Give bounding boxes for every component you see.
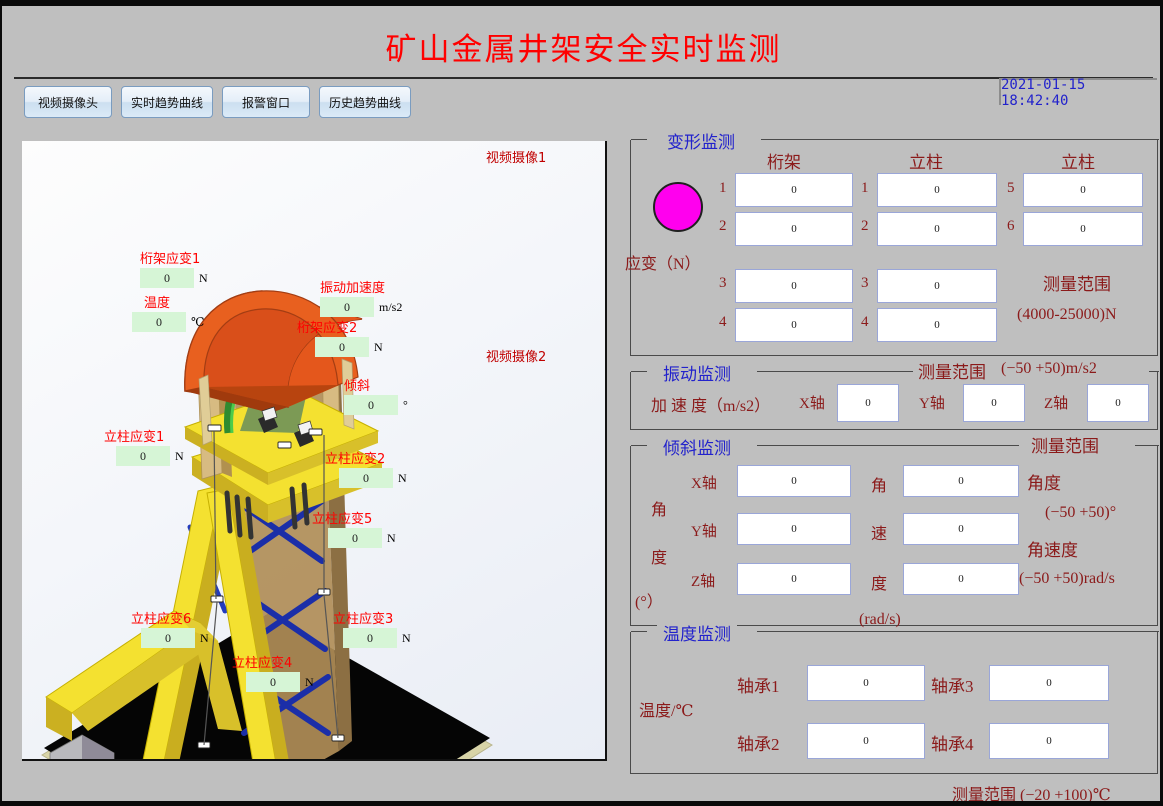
toolbar: 视频摄像头 实时趋势曲线 报警窗口 历史趋势曲线: [24, 86, 411, 118]
sensor-label: 倾斜: [344, 379, 408, 394]
tilt-angle-unit: (°）: [635, 588, 663, 612]
tilt-range-angle-value: (−50 +50)°: [1045, 504, 1116, 522]
alarm-window-button[interactable]: 报警窗口: [222, 86, 310, 118]
vibration-axis-z-label: Z轴: [1044, 392, 1068, 413]
truss-field-3[interactable]: 0: [735, 269, 853, 303]
sensor-vibration-acceleration: 振动加速度 0 m/s2: [320, 281, 402, 317]
sensor-unit: N: [398, 471, 407, 486]
deformation-range-title: 测量范围: [1043, 270, 1111, 295]
sensor-unit: N: [200, 631, 209, 646]
vibration-legend: 振动监测: [657, 360, 737, 385]
sensor-unit: N: [175, 449, 184, 464]
temperature-range-text: 测量范围 (−20 +100)℃: [952, 781, 1111, 805]
sensor-value: 0: [315, 337, 369, 357]
sensor-unit: m/s2: [379, 300, 402, 315]
realtime-trend-curve-button[interactable]: 实时趋势曲线: [121, 86, 213, 118]
truss-field-1[interactable]: 0: [735, 173, 853, 207]
sensor-column-strain-6: 立柱应变6 0 N: [131, 612, 209, 648]
strain-axis-label: 应变（N）: [625, 250, 701, 274]
sensor-column-strain-1: 立柱应变1 0 N: [104, 430, 184, 466]
truss-index-2: 2: [719, 218, 727, 235]
timestamp-display: 2021-01-15 18:42:40: [1001, 77, 1157, 109]
sensor-label: 立柱应变1: [104, 430, 184, 445]
deformation-status-indicator: [653, 182, 703, 232]
sensor-value: 0: [328, 528, 382, 548]
sensor-label: 桁架应变2: [297, 321, 383, 336]
sensor-truss-strain-2: 桁架应变2 0 N: [297, 321, 383, 357]
truss-index-4: 4: [719, 314, 727, 331]
truss-index-1: 1: [719, 180, 727, 197]
temperature-legend: 温度监测: [657, 620, 737, 645]
temperature-monitoring-group: 温度监测 温度/℃ 轴承1 0 轴承3 0 轴承2 0 轴承4 0: [630, 632, 1158, 774]
bearing-1-field[interactable]: 0: [807, 665, 925, 701]
tilt-axis-x-label: X轴: [691, 472, 717, 493]
tilt-angle-char-1: 角: [651, 496, 667, 520]
sensor-tilt: 倾斜 0 °: [344, 379, 408, 415]
pillar-a-index-2: 2: [861, 218, 869, 235]
sensor-label: 立柱应变2: [325, 452, 407, 467]
tilt-range-rate-title: 角速度: [1027, 536, 1078, 561]
tilt-range-rate-value: (−50 +50)rad/s: [1019, 570, 1115, 588]
tilt-axis-z-label: Z轴: [691, 570, 715, 591]
truss-index-3: 3: [719, 275, 727, 292]
sensor-value: 0: [141, 628, 195, 648]
vibration-z-field[interactable]: 0: [1087, 384, 1149, 422]
temperature-axis-label: 温度/℃: [639, 697, 693, 721]
deformation-monitoring-group: 变形监测 应变（N） 桁架 立柱 立柱 1 0 2 0 3 0 4 0 1 0 …: [630, 140, 1158, 356]
sensor-column-strain-4: 立柱应变4 0 N: [232, 656, 314, 692]
tilt-range-title: 测量范围: [1031, 432, 1099, 457]
clock-panel: 2021-01-15 18:42:40: [999, 78, 1157, 105]
tilt-x-field[interactable]: 0: [737, 465, 851, 497]
sensor-value: 0: [344, 395, 398, 415]
sensor-unit: °: [403, 398, 408, 413]
group-border-far-right: [1149, 371, 1159, 372]
deformation-range-value: (4000-25000)N: [1017, 306, 1117, 324]
sensor-label: 桁架应变1: [140, 252, 208, 267]
group-border-far-right: [1135, 445, 1159, 446]
application-window: 矿山金属井架安全实时监测 视频摄像头 实时趋势曲线 报警窗口 历史趋势曲线 20…: [0, 0, 1163, 806]
bearing-1-label: 轴承1: [737, 672, 780, 697]
pillar-a-field-2[interactable]: 0: [877, 212, 997, 246]
model-viewport[interactable]: 视频摄像1 视频摄像2 桁架应变1 0 N 温度 0 ℃ 振动加速度 0 m/s…: [22, 141, 607, 761]
pillar-a-field-1[interactable]: 0: [877, 173, 997, 207]
sensor-label: 立柱应变5: [312, 512, 396, 527]
bearing-4-label: 轴承4: [931, 730, 974, 755]
pillar-a-index-3: 3: [861, 275, 869, 292]
angular-rate-char-3: 度: [871, 570, 887, 594]
video-camera-button[interactable]: 视频摄像头: [24, 86, 112, 118]
vibration-range-value: (−50 +50)m/s2: [1001, 360, 1097, 378]
sensor-unit: N: [387, 531, 396, 546]
column-header-pillar-a: 立柱: [909, 148, 943, 173]
pillar-a-field-4[interactable]: 0: [877, 308, 997, 342]
sensor-value: 0: [132, 312, 186, 332]
sensor-unit: ℃: [191, 315, 204, 330]
deformation-legend: 变形监测: [661, 128, 741, 153]
angular-rate-z-field[interactable]: 0: [903, 563, 1019, 595]
vibration-x-field[interactable]: 0: [837, 384, 899, 422]
pillar-a-index-4: 4: [861, 314, 869, 331]
sensor-label: 温度: [132, 296, 204, 311]
sensor-label: 振动加速度: [320, 281, 402, 296]
tilt-monitoring-group: 倾斜监测 测量范围 角 度 (°） X轴 0 Y轴 0 Z轴 0 角 速 度 (…: [630, 446, 1158, 626]
angular-rate-x-field[interactable]: 0: [903, 465, 1019, 497]
sensor-unit: N: [305, 675, 314, 690]
angular-rate-y-field[interactable]: 0: [903, 513, 1019, 545]
sensor-unit: N: [402, 631, 411, 646]
sensor-truss-strain-1: 桁架应变1 0 N: [140, 252, 208, 288]
sensor-value: 0: [343, 628, 397, 648]
group-border-right: [761, 139, 1159, 140]
pillar-b-index-6: 6: [1007, 218, 1015, 235]
tilt-y-field[interactable]: 0: [737, 513, 851, 545]
bearing-3-label: 轴承3: [931, 672, 974, 697]
monitoring-panels: 变形监测 应变（N） 桁架 立柱 立柱 1 0 2 0 3 0 4 0 1 0 …: [622, 126, 1158, 806]
sensor-value: 0: [140, 268, 194, 288]
vibration-axis-x-label: X轴: [799, 392, 825, 413]
tilt-z-field[interactable]: 0: [737, 563, 851, 595]
sensor-column-strain-5: 立柱应变5 0 N: [312, 512, 396, 548]
group-border-right: [757, 631, 1159, 632]
bearing-2-field[interactable]: 0: [807, 723, 925, 759]
sensor-value: 0: [320, 297, 374, 317]
sensor-value: 0: [116, 446, 170, 466]
sensor-column-strain-3: 立柱应变3 0 N: [333, 612, 411, 648]
tilt-range-angle-title: 角度: [1027, 469, 1061, 494]
toolbar-divider: [14, 77, 1153, 79]
column-header-truss: 桁架: [767, 148, 801, 173]
sensor-label: 立柱应变6: [131, 612, 209, 627]
pillar-b-field-5[interactable]: 0: [1023, 173, 1143, 207]
tilt-axis-y-label: Y轴: [691, 520, 717, 541]
tilt-legend: 倾斜监测: [657, 434, 737, 459]
bearing-4-field[interactable]: 0: [989, 723, 1109, 759]
vibration-range-title: 测量范围: [918, 358, 986, 383]
acceleration-row-label: 加 速 度（m/s2）: [651, 392, 770, 416]
sensor-unit: N: [199, 271, 208, 286]
page-title: 矿山金属井架安全实时监测: [2, 24, 1163, 69]
column-header-pillar-b: 立柱: [1061, 148, 1095, 173]
sensor-label: 立柱应变3: [333, 612, 411, 627]
sensor-value: 0: [246, 672, 300, 692]
camera-label-1: 视频摄像1: [486, 147, 546, 166]
truss-field-4[interactable]: 0: [735, 308, 853, 342]
vibration-y-field[interactable]: 0: [963, 384, 1025, 422]
sensor-value: 0: [339, 468, 393, 488]
truss-field-2[interactable]: 0: [735, 212, 853, 246]
pillar-a-index-1: 1: [861, 180, 869, 197]
history-trend-curve-button[interactable]: 历史趋势曲线: [319, 86, 411, 118]
sensor-unit: N: [374, 340, 383, 355]
camera-label-2: 视频摄像2: [486, 346, 546, 365]
bearing-3-field[interactable]: 0: [989, 665, 1109, 701]
sensor-temperature: 温度 0 ℃: [132, 296, 204, 332]
angular-rate-char-2: 速: [871, 520, 887, 544]
pillar-b-index-5: 5: [1007, 180, 1015, 197]
vibration-axis-y-label: Y轴: [919, 392, 945, 413]
tilt-angle-char-2: 度: [651, 544, 667, 568]
pillar-a-field-3[interactable]: 0: [877, 269, 997, 303]
vibration-monitoring-group: 振动监测 测量范围 (−50 +50)m/s2 加 速 度（m/s2） X轴 0…: [630, 372, 1158, 430]
pillar-b-field-6[interactable]: 0: [1023, 212, 1143, 246]
sensor-column-strain-2: 立柱应变2 0 N: [325, 452, 407, 488]
angular-rate-unit: (rad/s): [859, 611, 901, 629]
bearing-2-label: 轴承2: [737, 730, 780, 755]
sensor-label: 立柱应变4: [232, 656, 314, 671]
angular-rate-char-1: 角: [871, 472, 887, 496]
group-border-right: [757, 371, 913, 372]
group-border-right: [757, 445, 1019, 446]
